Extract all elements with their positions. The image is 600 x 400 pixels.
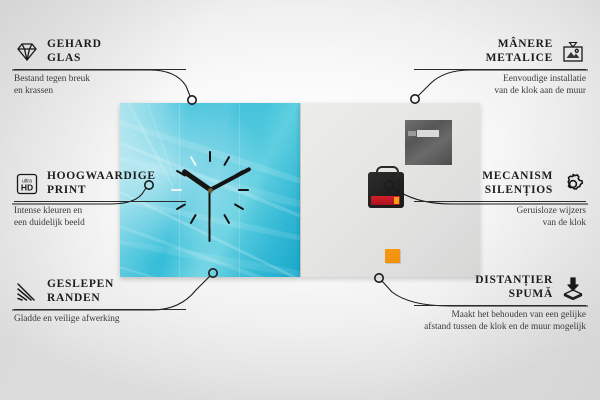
feature-manere-metalice[interactable]: MÂNERE METALICE Eenvoudige installatie v… [414,38,586,98]
feature-title-line2: METALICE [486,52,553,64]
feature-title-line2: SILENȚIOS [485,184,553,196]
divider [414,201,586,202]
spacer-pad-icon [560,276,586,300]
feature-title-line1: GESLEPEN [47,278,114,290]
feature-mecanism-silentios[interactable]: MECANISM SILENȚIOS Geruisloze wijzers va… [414,170,586,230]
picture-hanger-icon [560,40,586,64]
clock-movement-part [368,172,404,208]
divider [14,201,186,202]
feature-title-line1: DISTANȚIER [475,274,553,286]
feature-title-line1: HOOGWAARDIGE [47,170,156,182]
feature-distantier-spuma[interactable]: DISTANȚIER SPUMĂ Maakt het behouden van … [414,274,586,334]
feature-subtitle: Geruisloze wijzers van de klok [414,206,586,230]
divider [414,305,586,306]
feature-gehard-glas[interactable]: GEHARD GLAS Bestand tegen breuk en krass… [14,38,186,98]
beveled-edges-icon [14,280,40,304]
feature-subtitle: Bestand tegen breuk en krassen [14,74,186,98]
ultra-hd-icon: ultra HD [14,172,40,196]
feature-title-line1: MÂNERE [498,38,553,50]
feature-title-line1: GEHARD [47,38,102,50]
feature-title-line2: PRINT [47,184,86,196]
infographic-canvas: GEHARD GLAS Bestand tegen breuk en krass… [0,0,600,400]
foam-spacer-part [385,249,400,263]
feature-hoogwaardige-print[interactable]: ultra HD HOOGWAARDIGE PRINT Intense kleu… [14,170,186,230]
gear-icon [560,172,586,196]
feature-subtitle: Eenvoudige installatie van de klok aan d… [414,74,586,98]
svg-text:HD: HD [21,182,33,192]
feature-title-line2: RANDEN [47,292,100,304]
divider [14,69,186,70]
feature-subtitle: Gladde en veilige afwerking [14,314,186,326]
feature-subtitle: Maakt het behouden van een gelijke afsta… [386,310,586,334]
feature-title-line2: GLAS [47,52,81,64]
divider [14,309,186,310]
feature-subtitle: Intense kleuren en een duidelijk beeld [14,206,186,230]
metal-hanger-part [405,120,452,165]
feature-title-line1: MECANISM [482,170,553,182]
diamond-icon [14,40,40,64]
feature-geslepen-randen[interactable]: GESLEPEN RANDEN Gladde en veilige afwerk… [14,278,186,326]
feature-title-line2: SPUMĂ [509,288,553,300]
hand-cap [208,188,213,193]
divider [414,69,586,70]
